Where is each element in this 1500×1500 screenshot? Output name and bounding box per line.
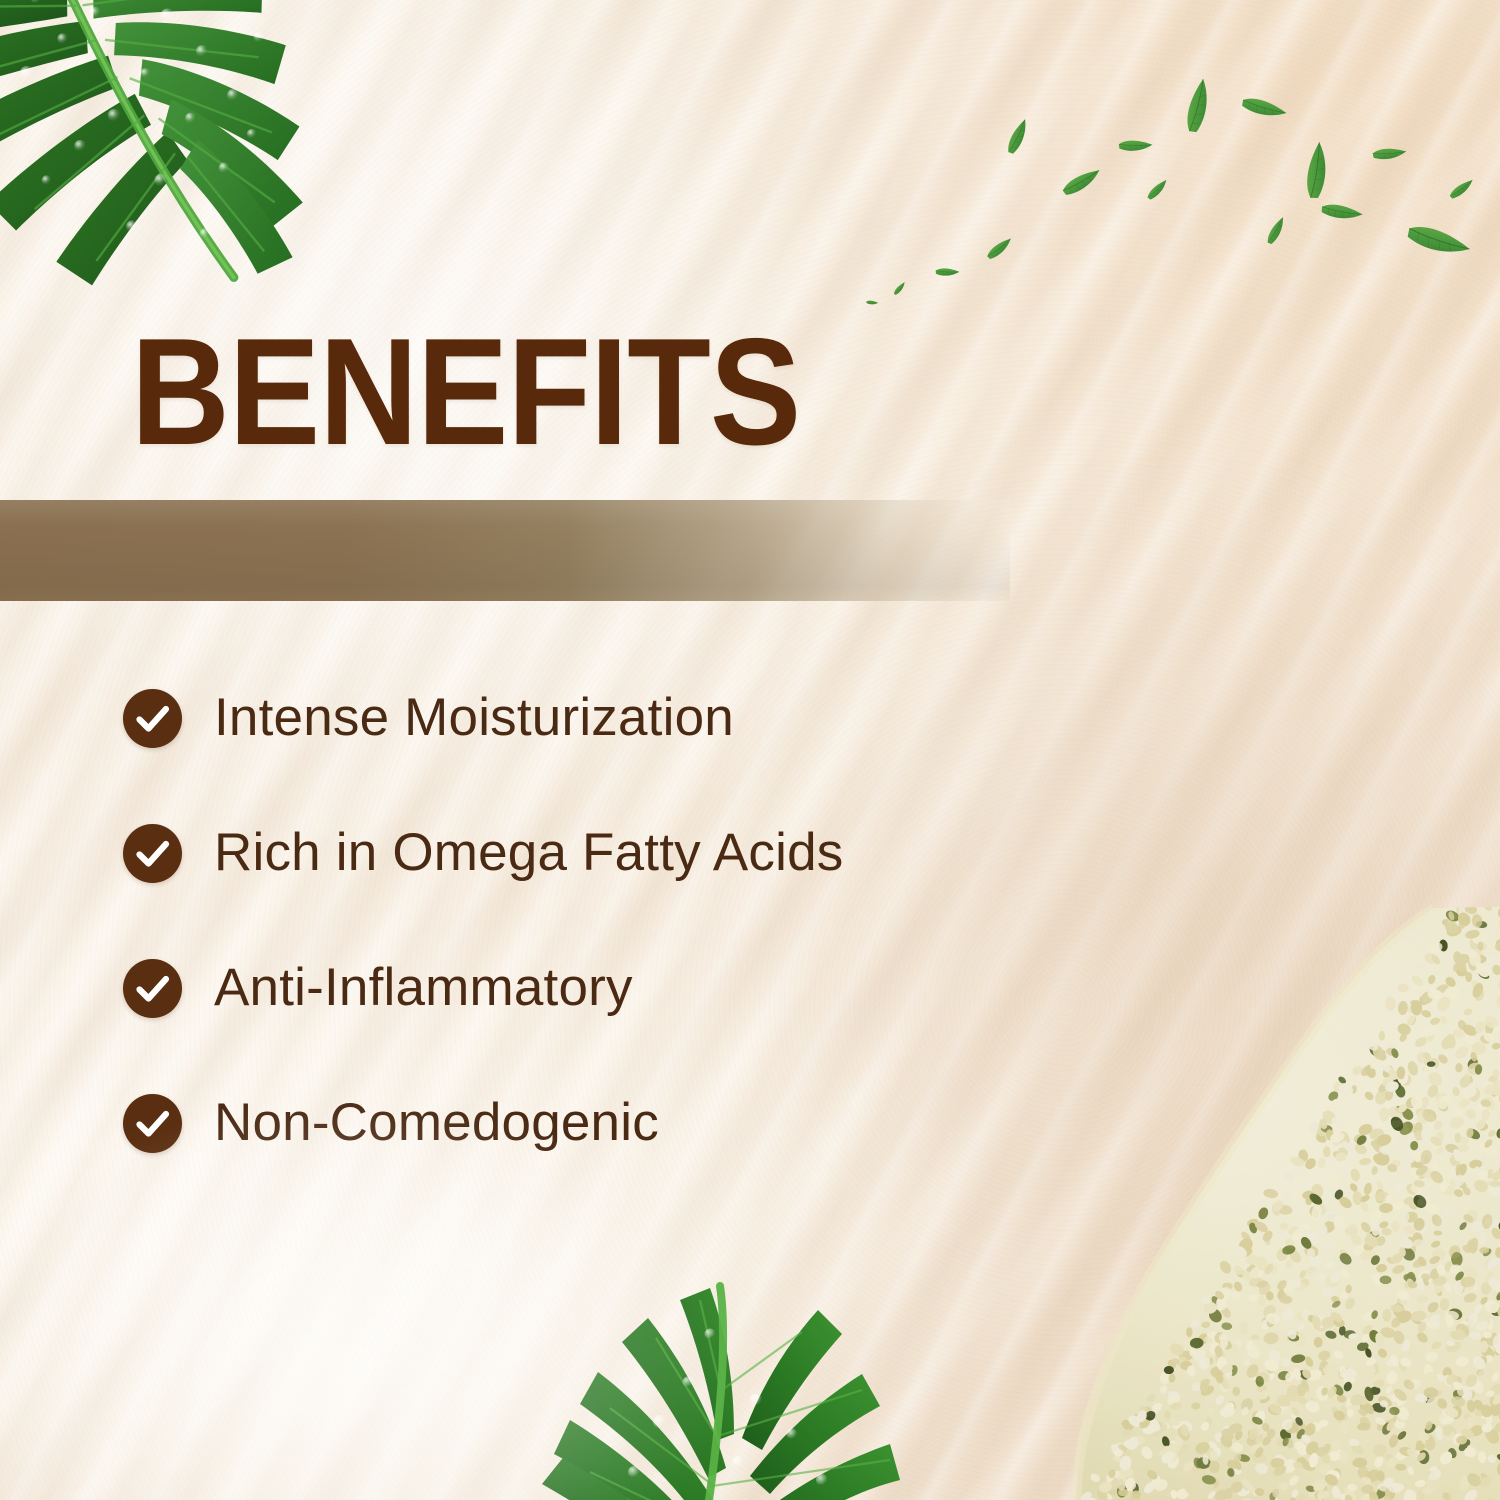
benefit-label: Rich in Omega Fatty Acids — [214, 823, 843, 883]
benefit-item: Intense Moisturization — [123, 688, 1083, 748]
check-circle-icon — [123, 689, 182, 748]
check-circle-icon — [123, 824, 182, 883]
benefit-label: Non-Comedogenic — [214, 1093, 659, 1153]
page-title: BENEFITS — [131, 316, 800, 468]
benefit-label: Anti-Inflammatory — [214, 958, 633, 1018]
hemp-seed-pile-image — [710, 896, 1500, 1500]
section-divider-bar — [0, 500, 1010, 601]
benefit-item: Rich in Omega Fatty Acids — [123, 823, 1083, 883]
monstera-leaf-icon — [0, 0, 346, 310]
divider-sheen — [0, 500, 1010, 601]
check-circle-icon — [123, 959, 182, 1018]
benefit-label: Intense Moisturization — [214, 688, 734, 748]
check-circle-icon — [123, 1094, 182, 1153]
benefits-infographic: BENEFITS Intense MoisturizationRich in O… — [0, 0, 1500, 1500]
